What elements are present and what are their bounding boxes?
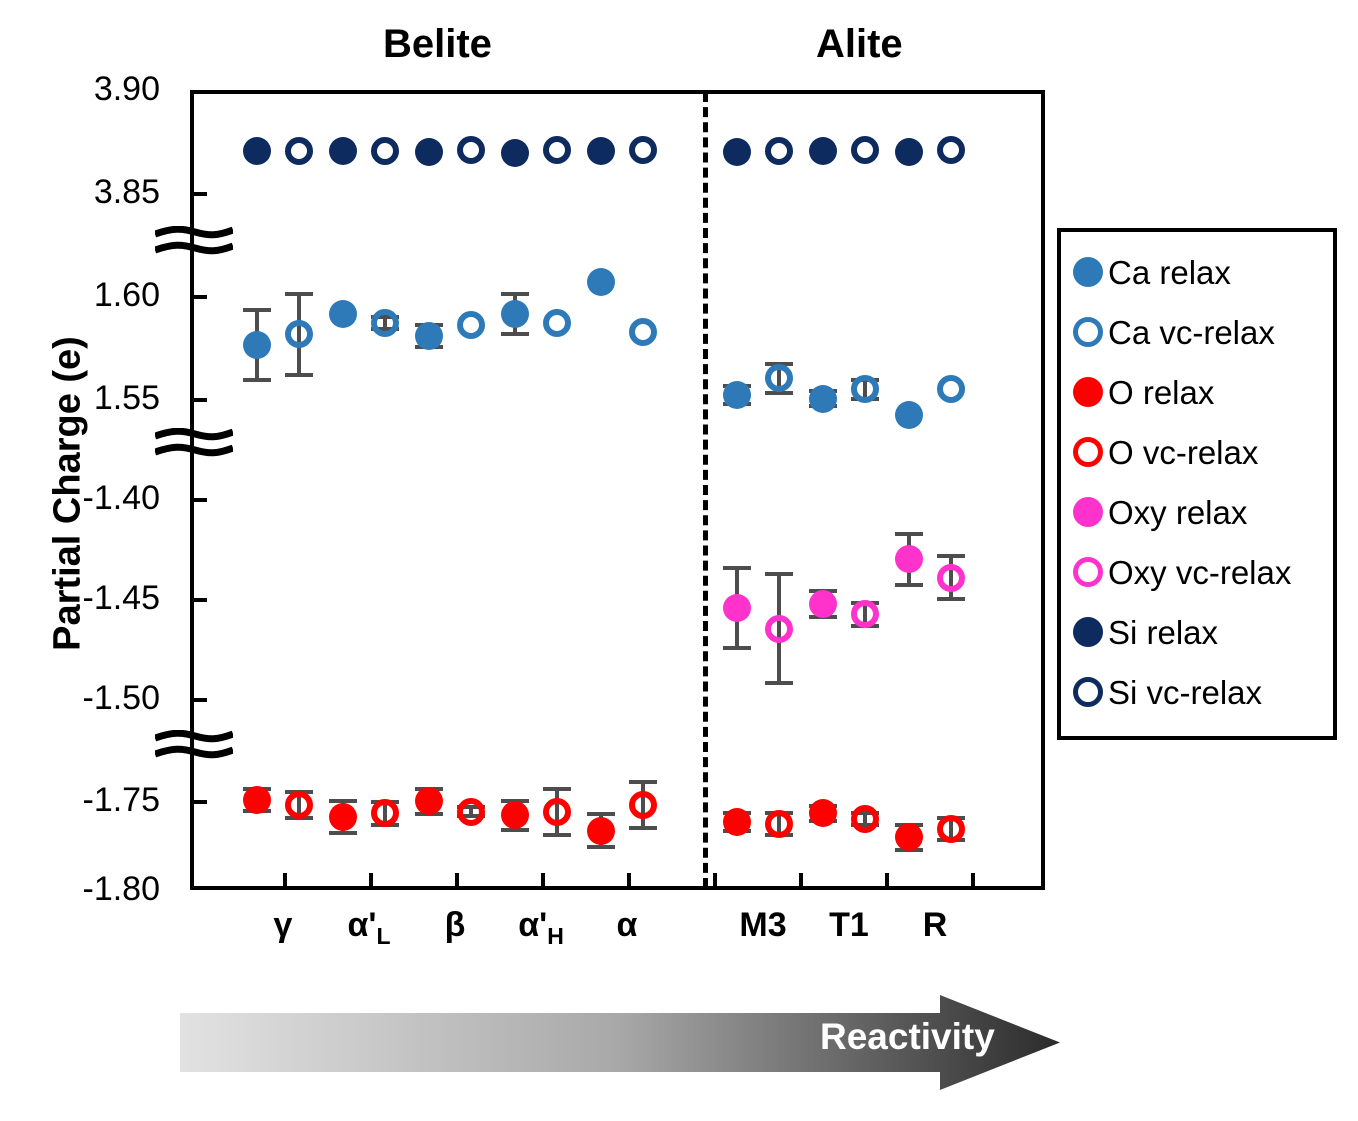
legend-marker-ca-vc-relax-icon bbox=[1073, 317, 1103, 347]
y-tick-label-neg1-75: -1.75 bbox=[10, 783, 160, 817]
legend-item-ca-relax[interactable]: Ca relax bbox=[1073, 242, 1333, 302]
x-label-R: R bbox=[885, 908, 985, 942]
y-tick-label-3-85: 3.85 bbox=[10, 175, 160, 209]
axis-break-upper bbox=[155, 226, 233, 248]
y-tick-label-3-90: 3.90 bbox=[10, 72, 160, 106]
legend-label: Oxy vc-relax bbox=[1108, 556, 1291, 589]
x-label-gamma: γ bbox=[233, 908, 333, 942]
legend-label: O vc-relax bbox=[1108, 436, 1258, 469]
legend-marker-ca-relax-icon bbox=[1073, 257, 1103, 287]
legend-item-oxy-vc-relax[interactable]: Oxy vc-relax bbox=[1073, 542, 1333, 602]
legend-item-si-relax[interactable]: Si relax bbox=[1073, 602, 1333, 662]
legend-marker-oxy-relax-icon bbox=[1073, 497, 1103, 527]
legend-label: Oxy relax bbox=[1108, 496, 1247, 529]
y-tick-1-60 bbox=[190, 295, 207, 299]
group-title-alite: Alite bbox=[816, 22, 903, 67]
legend-marker-o-vc-relax-icon bbox=[1073, 437, 1103, 467]
legend-marker-oxy-vc-relax-icon bbox=[1073, 557, 1103, 587]
x-label-alpha: α bbox=[577, 908, 677, 942]
y-tick-3-85 bbox=[190, 192, 207, 196]
group-title-belite: Belite bbox=[383, 22, 492, 67]
y-tick-label-1-60: 1.60 bbox=[10, 278, 160, 312]
legend-marker-o-relax-icon bbox=[1073, 377, 1103, 407]
legend-label: O relax bbox=[1108, 376, 1214, 409]
reactivity-label: Reactivity bbox=[820, 1016, 995, 1058]
legend-marker-si-relax-icon bbox=[1073, 617, 1103, 647]
legend-item-o-relax[interactable]: O relax bbox=[1073, 362, 1333, 422]
y-tick-neg1-40 bbox=[190, 498, 207, 502]
legend-label: Si vc-relax bbox=[1108, 676, 1262, 709]
legend-item-si-vc-relax[interactable]: Si vc-relax bbox=[1073, 662, 1333, 722]
legend-label: Ca relax bbox=[1108, 256, 1231, 289]
legend: Ca relax Ca vc-relax O relax O vc-relax … bbox=[1057, 228, 1337, 740]
legend-item-o-vc-relax[interactable]: O vc-relax bbox=[1073, 422, 1333, 482]
y-tick-label-neg1-50: -1.50 bbox=[10, 681, 160, 715]
legend-item-oxy-relax[interactable]: Oxy relax bbox=[1073, 482, 1333, 542]
y-tick-label-neg1-45: -1.45 bbox=[10, 581, 160, 615]
legend-label: Si relax bbox=[1108, 616, 1218, 649]
legend-label: Ca vc-relax bbox=[1108, 316, 1275, 349]
x-label-alpha-H: α'H bbox=[491, 908, 591, 953]
x-label-beta: β bbox=[405, 908, 505, 942]
y-tick-label-1-55: 1.55 bbox=[10, 381, 160, 415]
plot-area bbox=[190, 90, 1045, 890]
y-tick-1-55 bbox=[190, 398, 207, 402]
y-tick-neg1-45 bbox=[190, 598, 207, 602]
y-tick-label-neg1-40: -1.40 bbox=[10, 481, 160, 515]
axis-break-middle bbox=[155, 428, 233, 450]
x-label-T1: T1 bbox=[799, 908, 899, 942]
legend-marker-si-vc-relax-icon bbox=[1073, 677, 1103, 707]
x-label-M3: M3 bbox=[713, 908, 813, 942]
group-divider-dashed-line bbox=[703, 92, 708, 888]
y-tick-neg1-75 bbox=[190, 800, 207, 804]
x-label-alpha-L: α'L bbox=[319, 908, 419, 953]
axis-break-lower bbox=[155, 730, 233, 752]
y-tick-neg1-50 bbox=[190, 698, 207, 702]
legend-item-ca-vc-relax[interactable]: Ca vc-relax bbox=[1073, 302, 1333, 362]
y-tick-label-neg1-80: -1.80 bbox=[10, 872, 160, 906]
